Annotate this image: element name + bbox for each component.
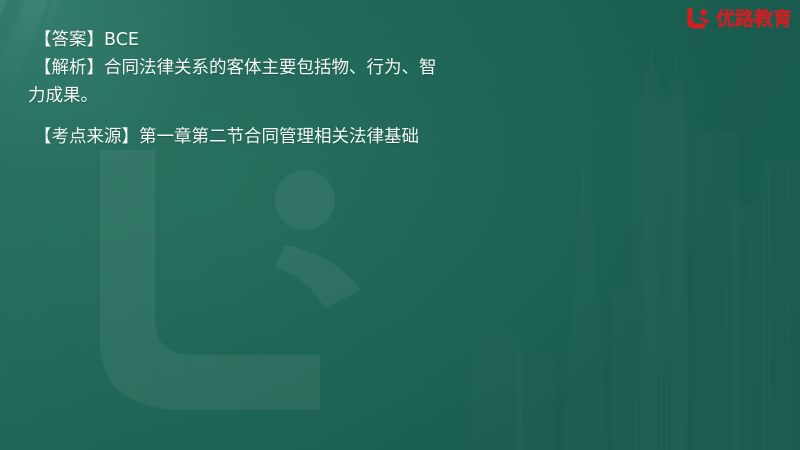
brand-watermark bbox=[70, 140, 400, 430]
analysis-line-1: 【解析】合同法律关系的客体主要包括物、行为、智 bbox=[34, 54, 734, 82]
analysis-line-2: 力成果。 bbox=[28, 82, 734, 110]
answer-line: 【答案】BCE bbox=[34, 26, 734, 54]
slide-canvas: 优路教育 【答案】BCE 【解析】合同法律关系的客体主要包括物、行为、智 力成果… bbox=[0, 0, 800, 450]
slide-text-block: 【答案】BCE 【解析】合同法律关系的客体主要包括物、行为、智 力成果。 【考点… bbox=[34, 26, 734, 151]
source-line: 【考点来源】第一章第二节合同管理相关法律基础 bbox=[34, 123, 734, 151]
